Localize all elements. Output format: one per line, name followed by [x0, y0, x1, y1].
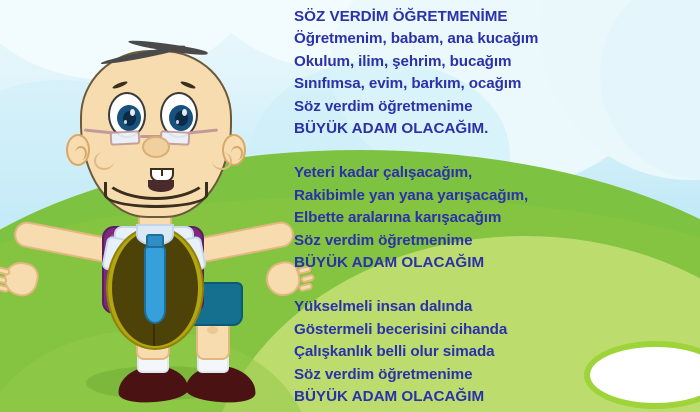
finger: [0, 274, 8, 284]
poem-line: Söz verdim öğretmenime: [294, 96, 694, 118]
ear-inner: [75, 146, 87, 160]
poem-line: Yeteri kadar çalışacağım,: [294, 162, 694, 184]
poem-line: BÜYÜK ADAM OLACAĞIM: [294, 252, 694, 274]
poster-canvas: SÖZ VERDİM ÖĞRETMENİME Öğretmenim, babam…: [0, 0, 700, 412]
poem-line: SÖZ VERDİM ÖĞRETMENİME: [294, 6, 694, 28]
poem-line: Söz verdim öğretmenime: [294, 230, 694, 252]
iris: [117, 105, 141, 131]
eye-glint: [130, 109, 135, 116]
poem-line: Öğretmenim, babam, ana kucağım: [294, 28, 694, 50]
cheek-line-left: [94, 152, 114, 170]
poem-line: BÜYÜK ADAM OLACAĞIM: [294, 386, 694, 408]
poem-line: Okulum, ilim, şehrim, bucağım: [294, 51, 694, 73]
poem-line: Yükselmeli insan dalında: [294, 296, 694, 318]
ear-left: [66, 134, 90, 166]
poem-line: Göstermeli becerisini cihanda: [294, 319, 694, 341]
ear-inner: [231, 146, 243, 160]
tooth-separator: [161, 168, 163, 176]
tongue: [148, 180, 174, 192]
eye-glint: [124, 120, 127, 124]
poem-line: Sınıfımsa, evim, barkım, ocağım: [294, 73, 694, 95]
finger: [0, 283, 10, 293]
poem-line: Elbette aralarına karışacağım: [294, 207, 694, 229]
eye-glint: [176, 120, 179, 124]
eye-glint: [182, 109, 187, 116]
poem-line: Söz verdim öğretmenime: [294, 364, 694, 386]
cheek-line-right: [212, 152, 232, 170]
glasses-lens-left: [110, 130, 141, 146]
nose: [142, 136, 170, 158]
knee-right: [207, 326, 218, 334]
poem-stanza: Yükselmeli insan dalında Göstermeli bece…: [294, 296, 694, 408]
iris: [169, 105, 193, 131]
poem-text-block: SÖZ VERDİM ÖĞRETMENİME Öğretmenim, babam…: [294, 6, 694, 409]
necktie-knot: [146, 234, 164, 248]
poem-line: BÜYÜK ADAM OLACAĞIM.: [294, 118, 694, 140]
poem-stanza: Yeteri kadar çalışacağım, Rakibimle yan …: [294, 162, 694, 274]
schoolboy-illustration: [8, 30, 298, 412]
poem-line: Rakibimle yan yana yarışacağım,: [294, 185, 694, 207]
necktie: [144, 246, 166, 324]
poem-line: Çalışkanlık belli olur simada: [294, 341, 694, 363]
poem-stanza: SÖZ VERDİM ÖĞRETMENİME Öğretmenim, babam…: [294, 6, 694, 140]
